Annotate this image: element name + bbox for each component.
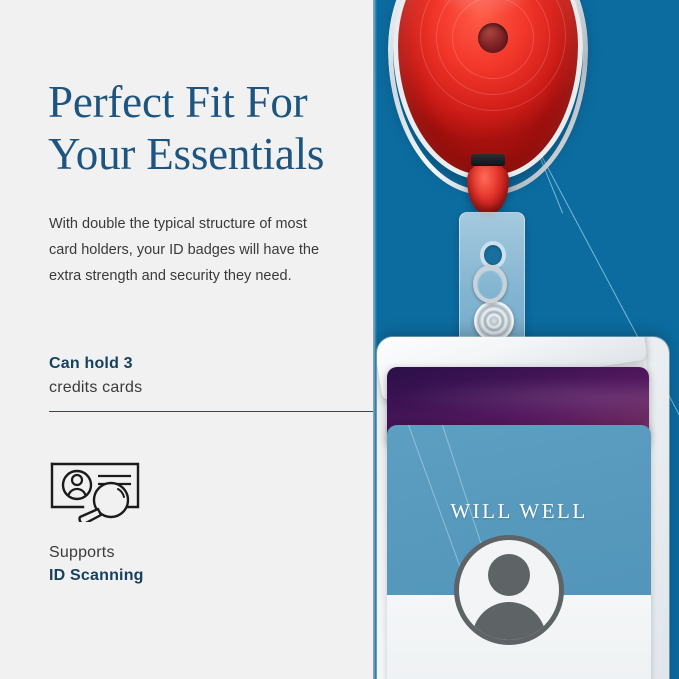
card-sheen bbox=[387, 375, 649, 419]
feature-id-scanning: Supports ID Scanning bbox=[49, 460, 349, 585]
product-photo-panel: ш ∞ WILL WELL bbox=[373, 0, 679, 679]
reel-clamp bbox=[471, 154, 505, 166]
section-divider bbox=[49, 411, 373, 412]
brand-name: WILL WELL bbox=[387, 499, 651, 524]
capacity-subtitle: credits cards bbox=[49, 379, 373, 397]
badge-reel bbox=[393, 0, 583, 190]
capacity-title: Can hold 3 bbox=[49, 355, 373, 373]
id-photo-placeholder-avatar bbox=[454, 535, 564, 645]
page-title: Perfect Fit For Your Essentials bbox=[48, 76, 368, 180]
id-card-scan-icon bbox=[49, 460, 141, 522]
reel-hub bbox=[478, 23, 508, 53]
text-content-panel: Perfect Fit For Your Essentials With dou… bbox=[0, 0, 373, 679]
headline-line-2: Your Essentials bbox=[48, 128, 368, 180]
product-feature-image: ш ∞ WILL WELL Perfect Fit For Your Essen… bbox=[0, 0, 679, 679]
avatar-body bbox=[472, 602, 546, 645]
card-holder: ш ∞ WILL WELL bbox=[377, 337, 669, 679]
snap-button bbox=[474, 301, 514, 341]
reel-teardrop-clip bbox=[467, 162, 509, 214]
split-ring-icon bbox=[473, 265, 507, 303]
scanning-label: Supports bbox=[49, 544, 349, 562]
avatar-head bbox=[488, 554, 530, 596]
headline-line-1: Perfect Fit For bbox=[48, 76, 368, 128]
body-paragraph: With double the typical structure of mos… bbox=[49, 212, 325, 289]
feature-capacity: Can hold 3 credits cards bbox=[49, 355, 373, 412]
scanning-title: ID Scanning bbox=[49, 567, 349, 585]
reel-body bbox=[393, 0, 583, 180]
